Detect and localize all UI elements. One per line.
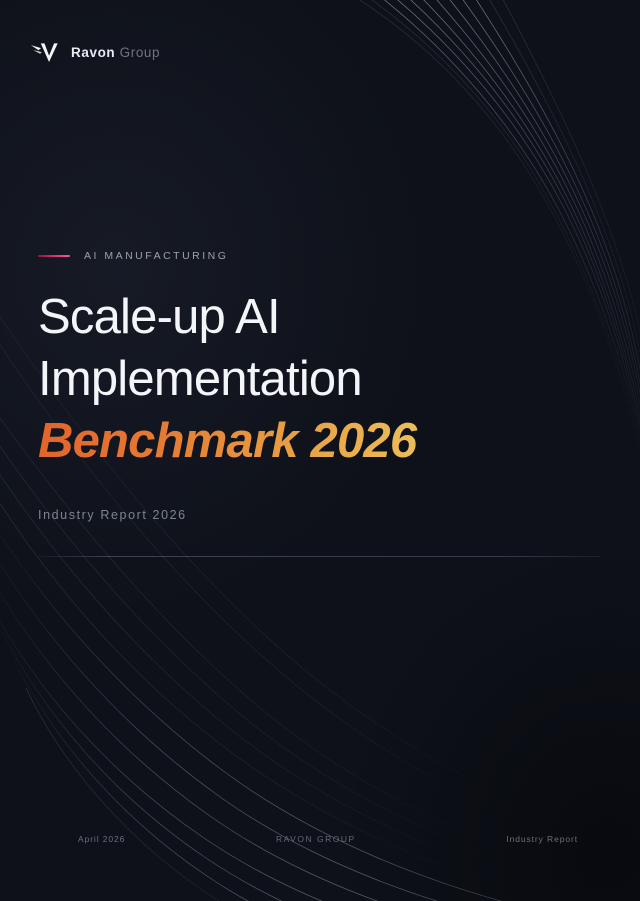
footer-document-type: Industry Report — [506, 834, 578, 844]
footer-date: April 2026 — [78, 834, 125, 844]
brand-name-strong: Ravon — [71, 45, 115, 60]
headline-line-1: Scale-up AI — [38, 286, 598, 348]
cover-title-block: AI MANUFACTURING Scale-up AI Implementat… — [38, 248, 598, 557]
headline-line-3-accent: Benchmark 2026 — [38, 410, 598, 472]
headline-line-2: Implementation — [38, 348, 598, 410]
brand-header: Ravon Group — [30, 38, 160, 66]
eyebrow: AI MANUFACTURING — [38, 248, 598, 264]
ravon-v-mark-icon — [30, 38, 60, 66]
accent-dash-icon — [38, 255, 70, 257]
brand-wordmark: Ravon Group — [71, 45, 160, 60]
brand-name-light: Group — [115, 45, 160, 60]
cover-subtitle: Industry Report 2026 — [38, 508, 598, 522]
eyebrow-label: AI MANUFACTURING — [84, 250, 228, 262]
footer-organization: RAVON GROUP — [276, 834, 356, 844]
cover-footer: April 2026 RAVON GROUP Industry Report — [78, 834, 578, 844]
report-cover-page: Ravon Group AI MANUFACTURING Scale-up AI… — [0, 0, 640, 901]
headline: Scale-up AI Implementation Benchmark 202… — [38, 286, 598, 472]
divider — [38, 556, 600, 557]
